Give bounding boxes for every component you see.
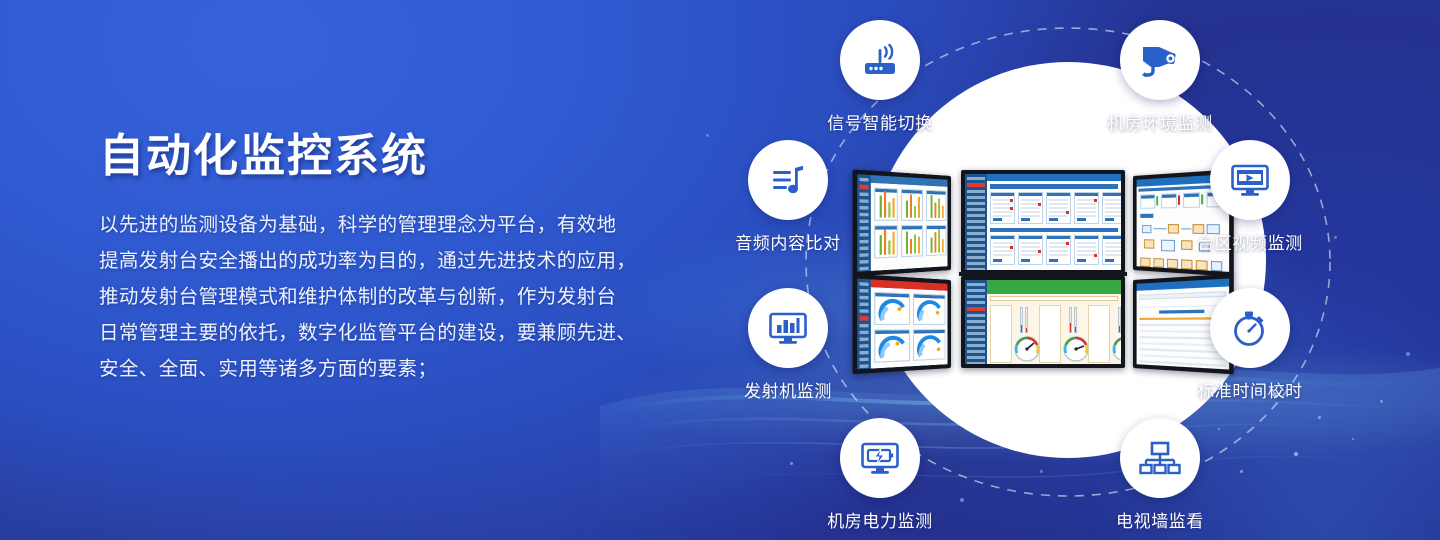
video-wall-panel-top-left [853, 169, 951, 276]
panel-sidebar [857, 279, 871, 370]
cctv-camera-icon [1120, 20, 1200, 100]
video-wall-panel-bottom-center [961, 276, 1125, 368]
wifi-router-icon [840, 20, 920, 100]
paragraph-line: 推动发射台管理模式和维护体制的改革与创新，作为发射台 [99, 279, 699, 315]
panel-content-arc-gauges [871, 287, 947, 368]
stopwatch-icon [1210, 288, 1290, 368]
paragraph-line: 安全、全面、实用等诸多方面的要素； [99, 351, 699, 387]
sitemap-icon [1120, 418, 1200, 498]
banner-paragraph: 以先进的监测设备为基础，科学的管理理念为平台，有效地 提高发射台安全播出的成功率… [99, 207, 699, 387]
paragraph-line: 以先进的监测设备为基础，科学的管理理念为平台，有效地 [99, 207, 699, 243]
feature-label: 音频内容比对 [718, 229, 858, 254]
banner-stage: 自动化监控系统 以先进的监测设备为基础，科学的管理理念为平台，有效地 提高发射台… [0, 0, 1440, 540]
panel-sidebar [965, 174, 987, 270]
feature-label: 机房电力监测 [810, 507, 950, 532]
feature-badge-transmitter[interactable]: 发射机监测 [718, 288, 858, 402]
paragraph-line: 日常管理主要的依托，数字化监管平台的建设，要兼顾先进、 [99, 315, 699, 351]
panel-content-status-tables [987, 181, 1121, 270]
feature-label: 发射机监测 [718, 377, 858, 402]
feature-badge-audio-compare[interactable]: 音频内容比对 [718, 140, 858, 254]
panel-content-bar-charts [871, 183, 947, 271]
paragraph-line: 提高发射台安全播出的成功率为目的，通过先进技术的应用， [99, 243, 699, 279]
video-wall-panel-top-center [961, 170, 1125, 274]
monitor-chart-icon [748, 288, 828, 368]
monitor-video-icon [1210, 140, 1290, 220]
feature-badge-tv-wall[interactable]: 电视墙监看 [1090, 418, 1230, 532]
panel-sidebar [857, 174, 871, 272]
music-note-list-icon [748, 140, 828, 220]
feature-badge-area-video[interactable]: 台区视频监测 [1180, 140, 1320, 254]
feature-badge-power-monitor[interactable]: 机房电力监测 [810, 418, 950, 532]
panel-sidebar [965, 280, 987, 364]
feature-badge-time-sync[interactable]: 标准时间校时 [1180, 288, 1320, 402]
banner-copy: 自动化监控系统 以先进的监测设备为基础，科学的管理理念为平台，有效地 提高发射台… [99, 132, 699, 387]
feature-label: 电视墙监看 [1090, 507, 1230, 532]
feature-label: 标准时间校时 [1180, 377, 1320, 402]
panel-content-thermometer-gauges [987, 287, 1121, 364]
video-wall-panel-bottom-left [853, 274, 951, 374]
feature-label: 台区视频监测 [1180, 229, 1320, 254]
feature-badge-room-env[interactable]: 机房环境监测 [1090, 20, 1230, 134]
feature-badge-signal-switch[interactable]: 信号智能切换 [810, 20, 950, 134]
feature-label: 信号智能切换 [810, 109, 950, 134]
monitor-battery-icon [840, 418, 920, 498]
page-title: 自动化监控系统 [99, 132, 699, 179]
feature-cluster: 信号智能切换 机房环境监测 [700, 0, 1440, 540]
feature-label: 机房环境监测 [1090, 109, 1230, 134]
